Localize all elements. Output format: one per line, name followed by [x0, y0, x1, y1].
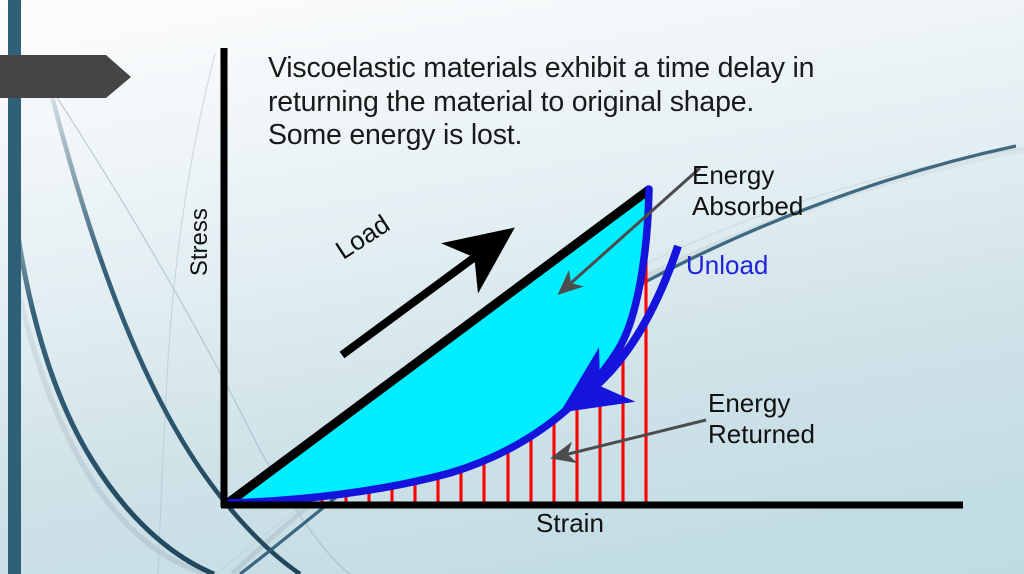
unload-label: Unload: [686, 250, 768, 281]
slide-title: Viscoelastic materials exhibit a time de…: [268, 52, 814, 153]
x-axis-label: Strain: [536, 508, 604, 539]
presentation-slide: Viscoelastic materials exhibit a time de…: [0, 0, 1024, 574]
energy-absorbed-label: Energy Absorbed: [692, 160, 803, 221]
energy-returned-label: Energy Returned: [708, 388, 815, 449]
y-axis-label: Stress: [186, 197, 214, 287]
